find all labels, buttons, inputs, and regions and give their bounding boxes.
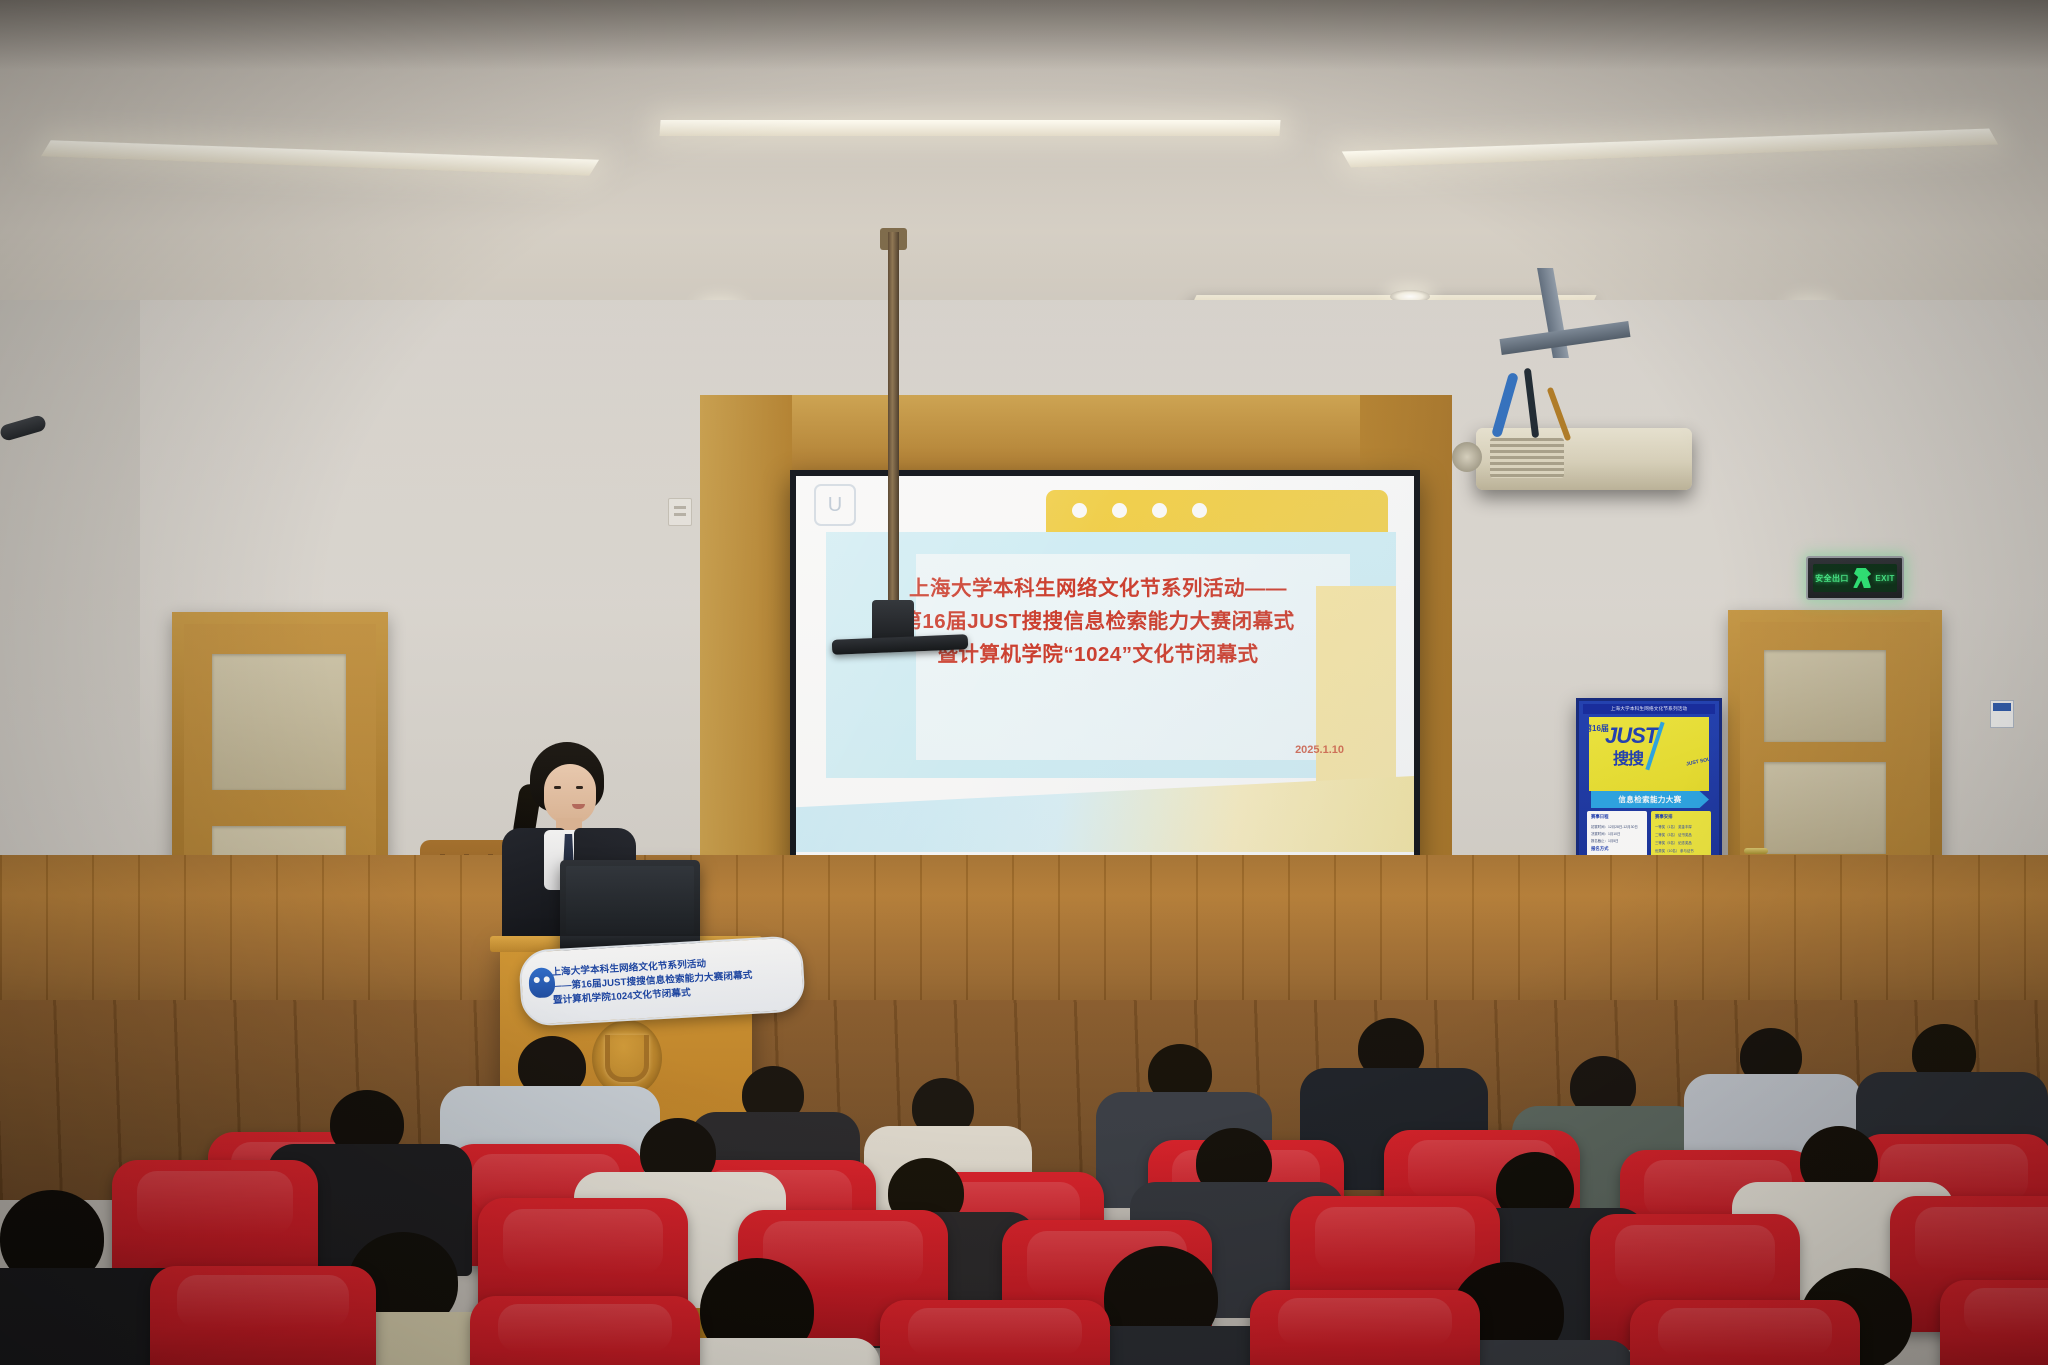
projector-lens	[1452, 442, 1482, 472]
poster-line: 二等奖（3名） 证书奖品	[1655, 832, 1692, 837]
auditorium-photo: U 上海大学本科生网络文化节系列活动—— 第16届JUST搜搜信息检索能力大赛闭…	[0, 0, 2048, 1365]
left-wall	[0, 300, 140, 860]
poster-brand-cn: 搜搜	[1613, 745, 1643, 769]
presenter-face	[544, 764, 596, 824]
power-outlet-icon	[668, 498, 692, 526]
poster-column-title: 赛事安排	[1655, 814, 1673, 820]
poster-line: 报名截止：1月5日	[1591, 838, 1619, 843]
slide-title-line-1: 上海大学本科生网络文化节系列活动——	[842, 572, 1354, 605]
projector-vent	[1490, 438, 1564, 478]
audience-seat	[150, 1266, 376, 1365]
exit-sign-face: 安全出口 EXIT	[1813, 564, 1897, 592]
browser-dot	[1112, 503, 1127, 518]
poster-line: 决赛时间：1月10日	[1591, 831, 1620, 836]
university-logo-icon: U	[814, 484, 856, 526]
ceiling-projector-icon	[1476, 428, 1692, 490]
presenter-eye	[554, 786, 561, 789]
podium-banner-text: 上海大学本科生网络文化节系列活动 ——第16届JUST搜搜信息检索能力大赛闭幕式…	[551, 955, 754, 1009]
slide-title-line-2: 第16届JUST搜搜信息检索能力大赛闭幕式	[842, 605, 1354, 638]
stage-wood-header	[700, 395, 1452, 475]
door-right-handle-icon[interactable]	[1744, 848, 1768, 854]
ceiling-shadow	[0, 0, 2048, 70]
door-right-panel-top	[1764, 650, 1886, 742]
podium-monitor	[560, 860, 700, 952]
exit-sign-left-text: 安全出口	[1815, 573, 1849, 584]
poster-line: 初赛时间：12月28日-12月30日	[1591, 824, 1638, 829]
door-right-panel-mid	[1764, 762, 1886, 854]
running-man-icon	[1853, 568, 1871, 588]
emblem-u-shape	[605, 1035, 649, 1082]
audience-seat	[880, 1300, 1110, 1365]
poster-header-text: 上海大学本科生网络文化节系列活动	[1583, 704, 1715, 714]
poster-line: 三等奖（5名） 纪念奖品	[1655, 840, 1692, 845]
wall-notice-band	[1993, 703, 2011, 711]
ceiling-light-strip-center	[659, 120, 1280, 136]
audience-seat	[470, 1296, 700, 1365]
exit-sign: 安全出口 EXIT	[1806, 556, 1904, 600]
browser-dot	[1192, 503, 1207, 518]
slide-date: 2025.1.10	[1295, 744, 1344, 756]
monitor-screen	[566, 866, 694, 934]
wall-wainscot	[0, 855, 2048, 1015]
poster-line: 一等奖（1名） 奖金丰厚	[1655, 824, 1692, 829]
audience-seat	[1250, 1290, 1480, 1365]
poster-method-title: 报名方式	[1591, 846, 1609, 852]
poster-subtitle: 信息检索能力大赛	[1618, 794, 1681, 805]
slide-browser-bar	[1046, 490, 1388, 532]
poster-subtitle-arrow: 信息检索能力大赛	[1591, 791, 1709, 808]
browser-dot	[1072, 503, 1087, 518]
audience-seat	[1940, 1280, 2048, 1365]
exit-sign-right-text: EXIT	[1875, 574, 1894, 583]
audience-seat	[1630, 1300, 1860, 1365]
door-left-panel-top	[212, 654, 346, 790]
poster-line: 优秀奖（10名） 参与证书	[1655, 848, 1694, 853]
poster-column-title: 赛事日程	[1591, 814, 1609, 820]
slide-title: 上海大学本科生网络文化节系列活动—— 第16届JUST搜搜信息检索能力大赛闭幕式…	[842, 572, 1354, 672]
podium-banner: 上海大学本科生网络文化节系列活动 ——第16届JUST搜搜信息检索能力大赛闭幕式…	[518, 935, 806, 1027]
shanghai-university-emblem-icon	[592, 1020, 662, 1096]
boom-rod	[888, 232, 899, 632]
browser-dot	[1152, 503, 1167, 518]
presenter-eye	[576, 786, 583, 789]
wall-notice-card	[1990, 700, 2014, 728]
